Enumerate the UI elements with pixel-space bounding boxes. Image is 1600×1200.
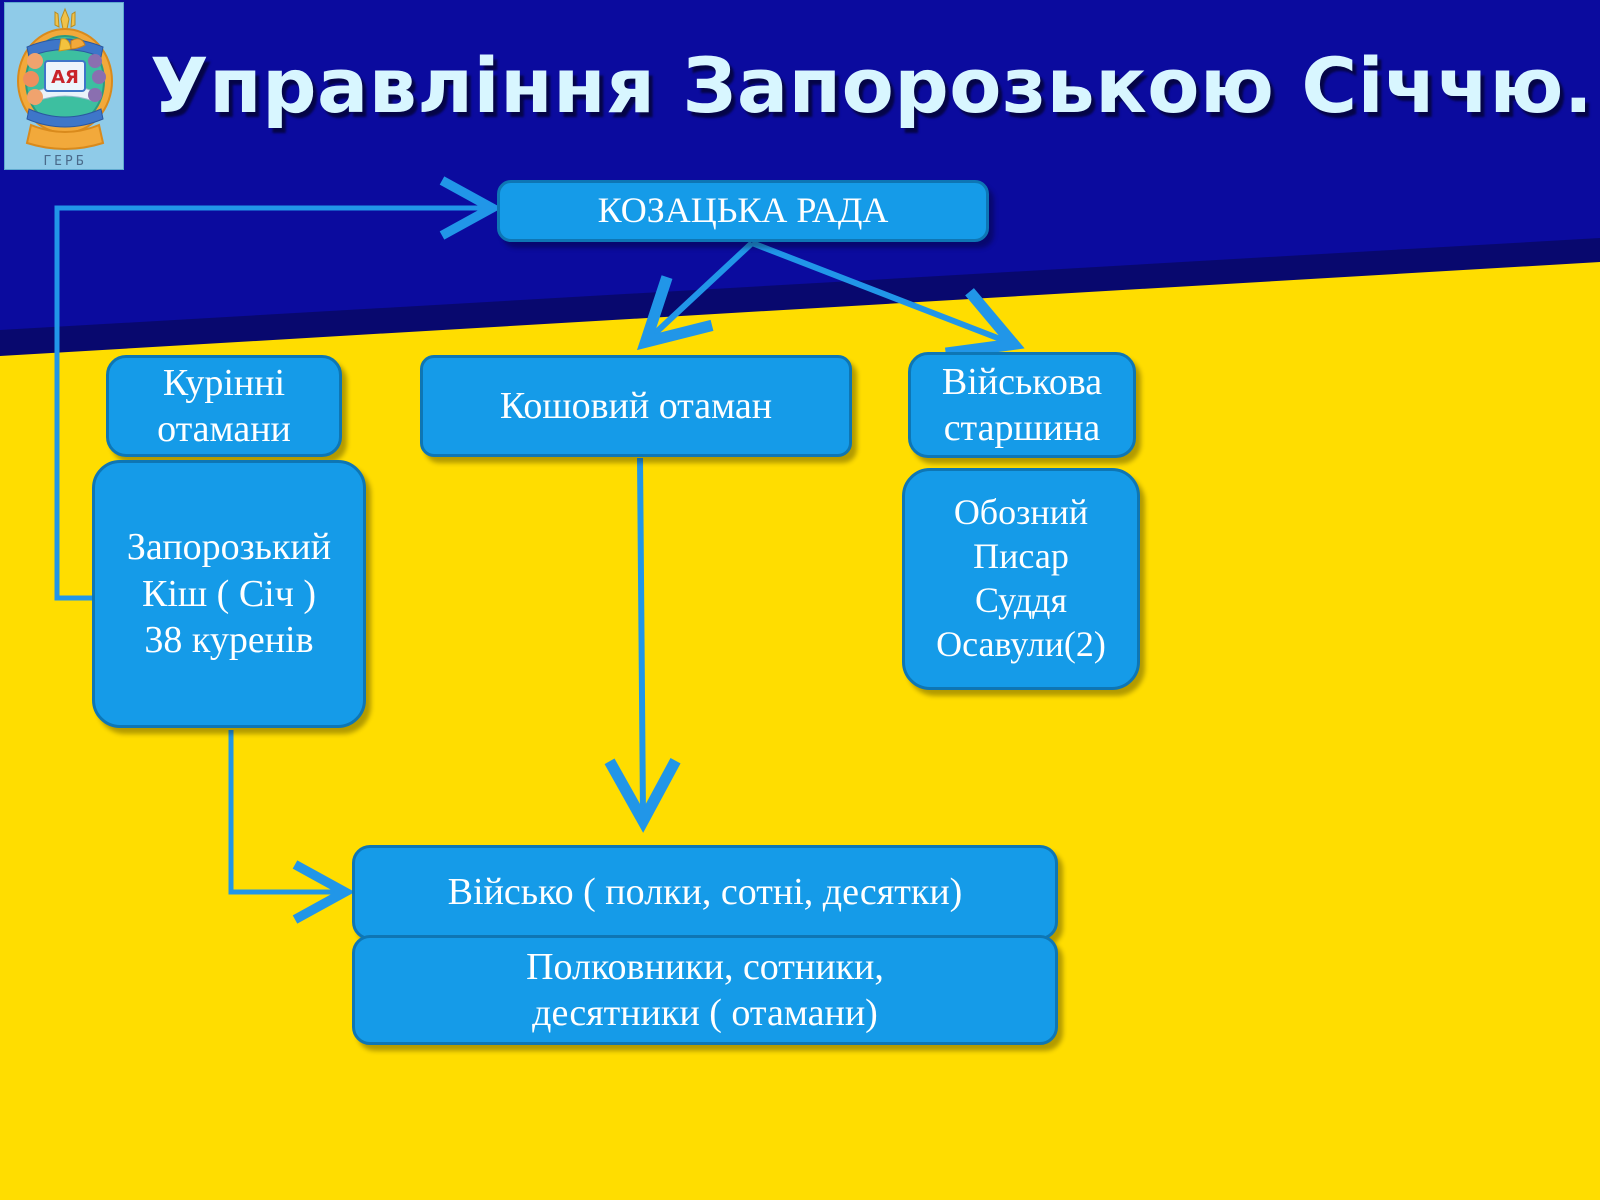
node-zaporozkyi-kish[interactable]: Запорозький Кіш ( Січ ) 38 куренів <box>92 460 366 728</box>
node-kurinni-otamany[interactable]: Курінні отамани <box>106 355 342 457</box>
node-starshyna-posady[interactable]: Обозний Писар Суддя Осавули(2) <box>902 468 1140 690</box>
emblem-caption-text: ГЕРБ <box>43 154 86 169</box>
node-koshovyi-otaman[interactable]: Кошовий отаман <box>420 355 852 457</box>
node-kozatska-rada[interactable]: КОЗАЦЬКА РАДА <box>497 180 989 242</box>
school-emblem-image: АЯ ГЕРБ <box>4 2 124 170</box>
svg-text:АЯ: АЯ <box>51 67 79 88</box>
node-polkovnyky-sotnyky[interactable]: Полковники, сотники, десятники ( отамани… <box>352 935 1058 1045</box>
slide-canvas: АЯ ГЕРБ Управління Запорозькою Січчю. <box>0 0 1600 1200</box>
node-viyskova-starshyna[interactable]: Військова старшина <box>908 352 1136 458</box>
node-viysko[interactable]: Військо ( полки, сотні, десятки) <box>352 845 1058 940</box>
slide-title: Управління Запорозькою Січчю. <box>150 48 1580 124</box>
emblem-artwork-icon: АЯ ГЕРБ <box>5 3 124 170</box>
